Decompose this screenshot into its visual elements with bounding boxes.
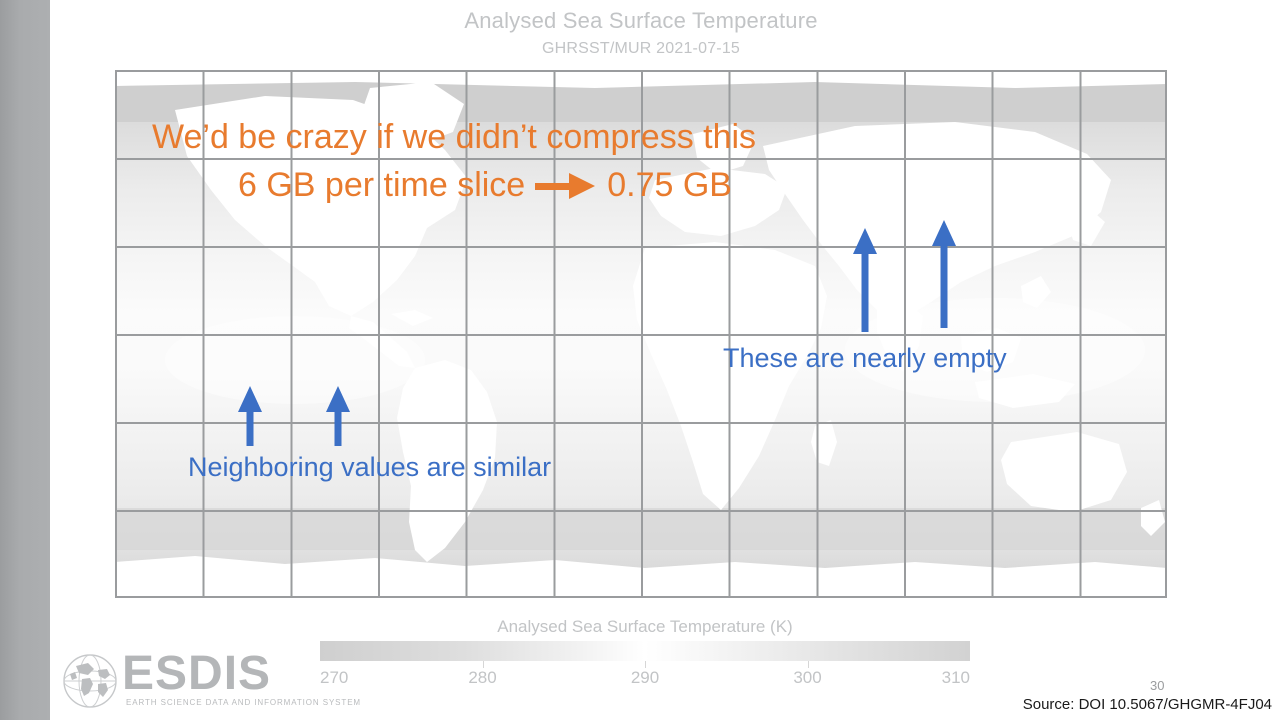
source-citation: Source: DOI 10.5067/GHGMR-4FJ04	[1023, 696, 1272, 713]
annotation-nearly-empty: These are nearly empty	[723, 343, 1007, 374]
figure-title: Analysed Sea Surface Temperature	[115, 8, 1167, 34]
annotation-neighboring-values: Neighboring values are similar	[188, 452, 551, 483]
headline-line-2: 6 GB per time slice 0.75 GB	[238, 166, 732, 205]
colorbar-tick	[645, 661, 646, 668]
colorbar-tick-label: 280	[468, 668, 496, 688]
esdis-tagline: EARTH SCIENCE DATA AND INFORMATION SYSTE…	[126, 698, 361, 707]
colorbar-tick-label: 290	[631, 668, 659, 688]
up-arrow-icon-right-1	[853, 228, 877, 332]
headline-before-arrow: 6 GB per time slice	[238, 166, 525, 205]
esdis-wordmark: ESDIS	[122, 650, 271, 698]
colorbar-title: Analysed Sea Surface Temperature (K)	[320, 617, 970, 637]
up-arrow-icon-left-2	[326, 386, 350, 446]
figure-subtitle: GHRSST/MUR 2021-07-15	[115, 40, 1167, 58]
up-arrow-icon-right-2	[932, 220, 956, 328]
colorbar-ticks	[320, 661, 970, 668]
colorbar-tick	[483, 661, 484, 668]
colorbar-tick-label: 300	[793, 668, 821, 688]
up-arrow-icon-left-1	[238, 386, 262, 446]
arrow-right-icon	[535, 173, 597, 199]
slide: Analysed Sea Surface Temperature GHRSST/…	[0, 0, 1280, 720]
globe-icon	[60, 652, 120, 710]
esdis-logo: ESDIS EARTH SCIENCE DATA AND INFORMATION…	[60, 650, 290, 712]
left-accent-band	[0, 0, 50, 720]
colorbar-tick-label: 310	[942, 668, 970, 688]
colorbar-tick	[808, 661, 809, 668]
page-number: 30	[1150, 678, 1164, 693]
colorbar-gradient	[320, 641, 970, 661]
headline-line-1: We’d be crazy if we didn’t compress this	[152, 118, 756, 157]
colorbar-tick-label: 270	[320, 668, 348, 688]
colorbar-tick-labels: 270280290300310	[320, 668, 970, 690]
headline-after-arrow: 0.75 GB	[607, 166, 732, 205]
